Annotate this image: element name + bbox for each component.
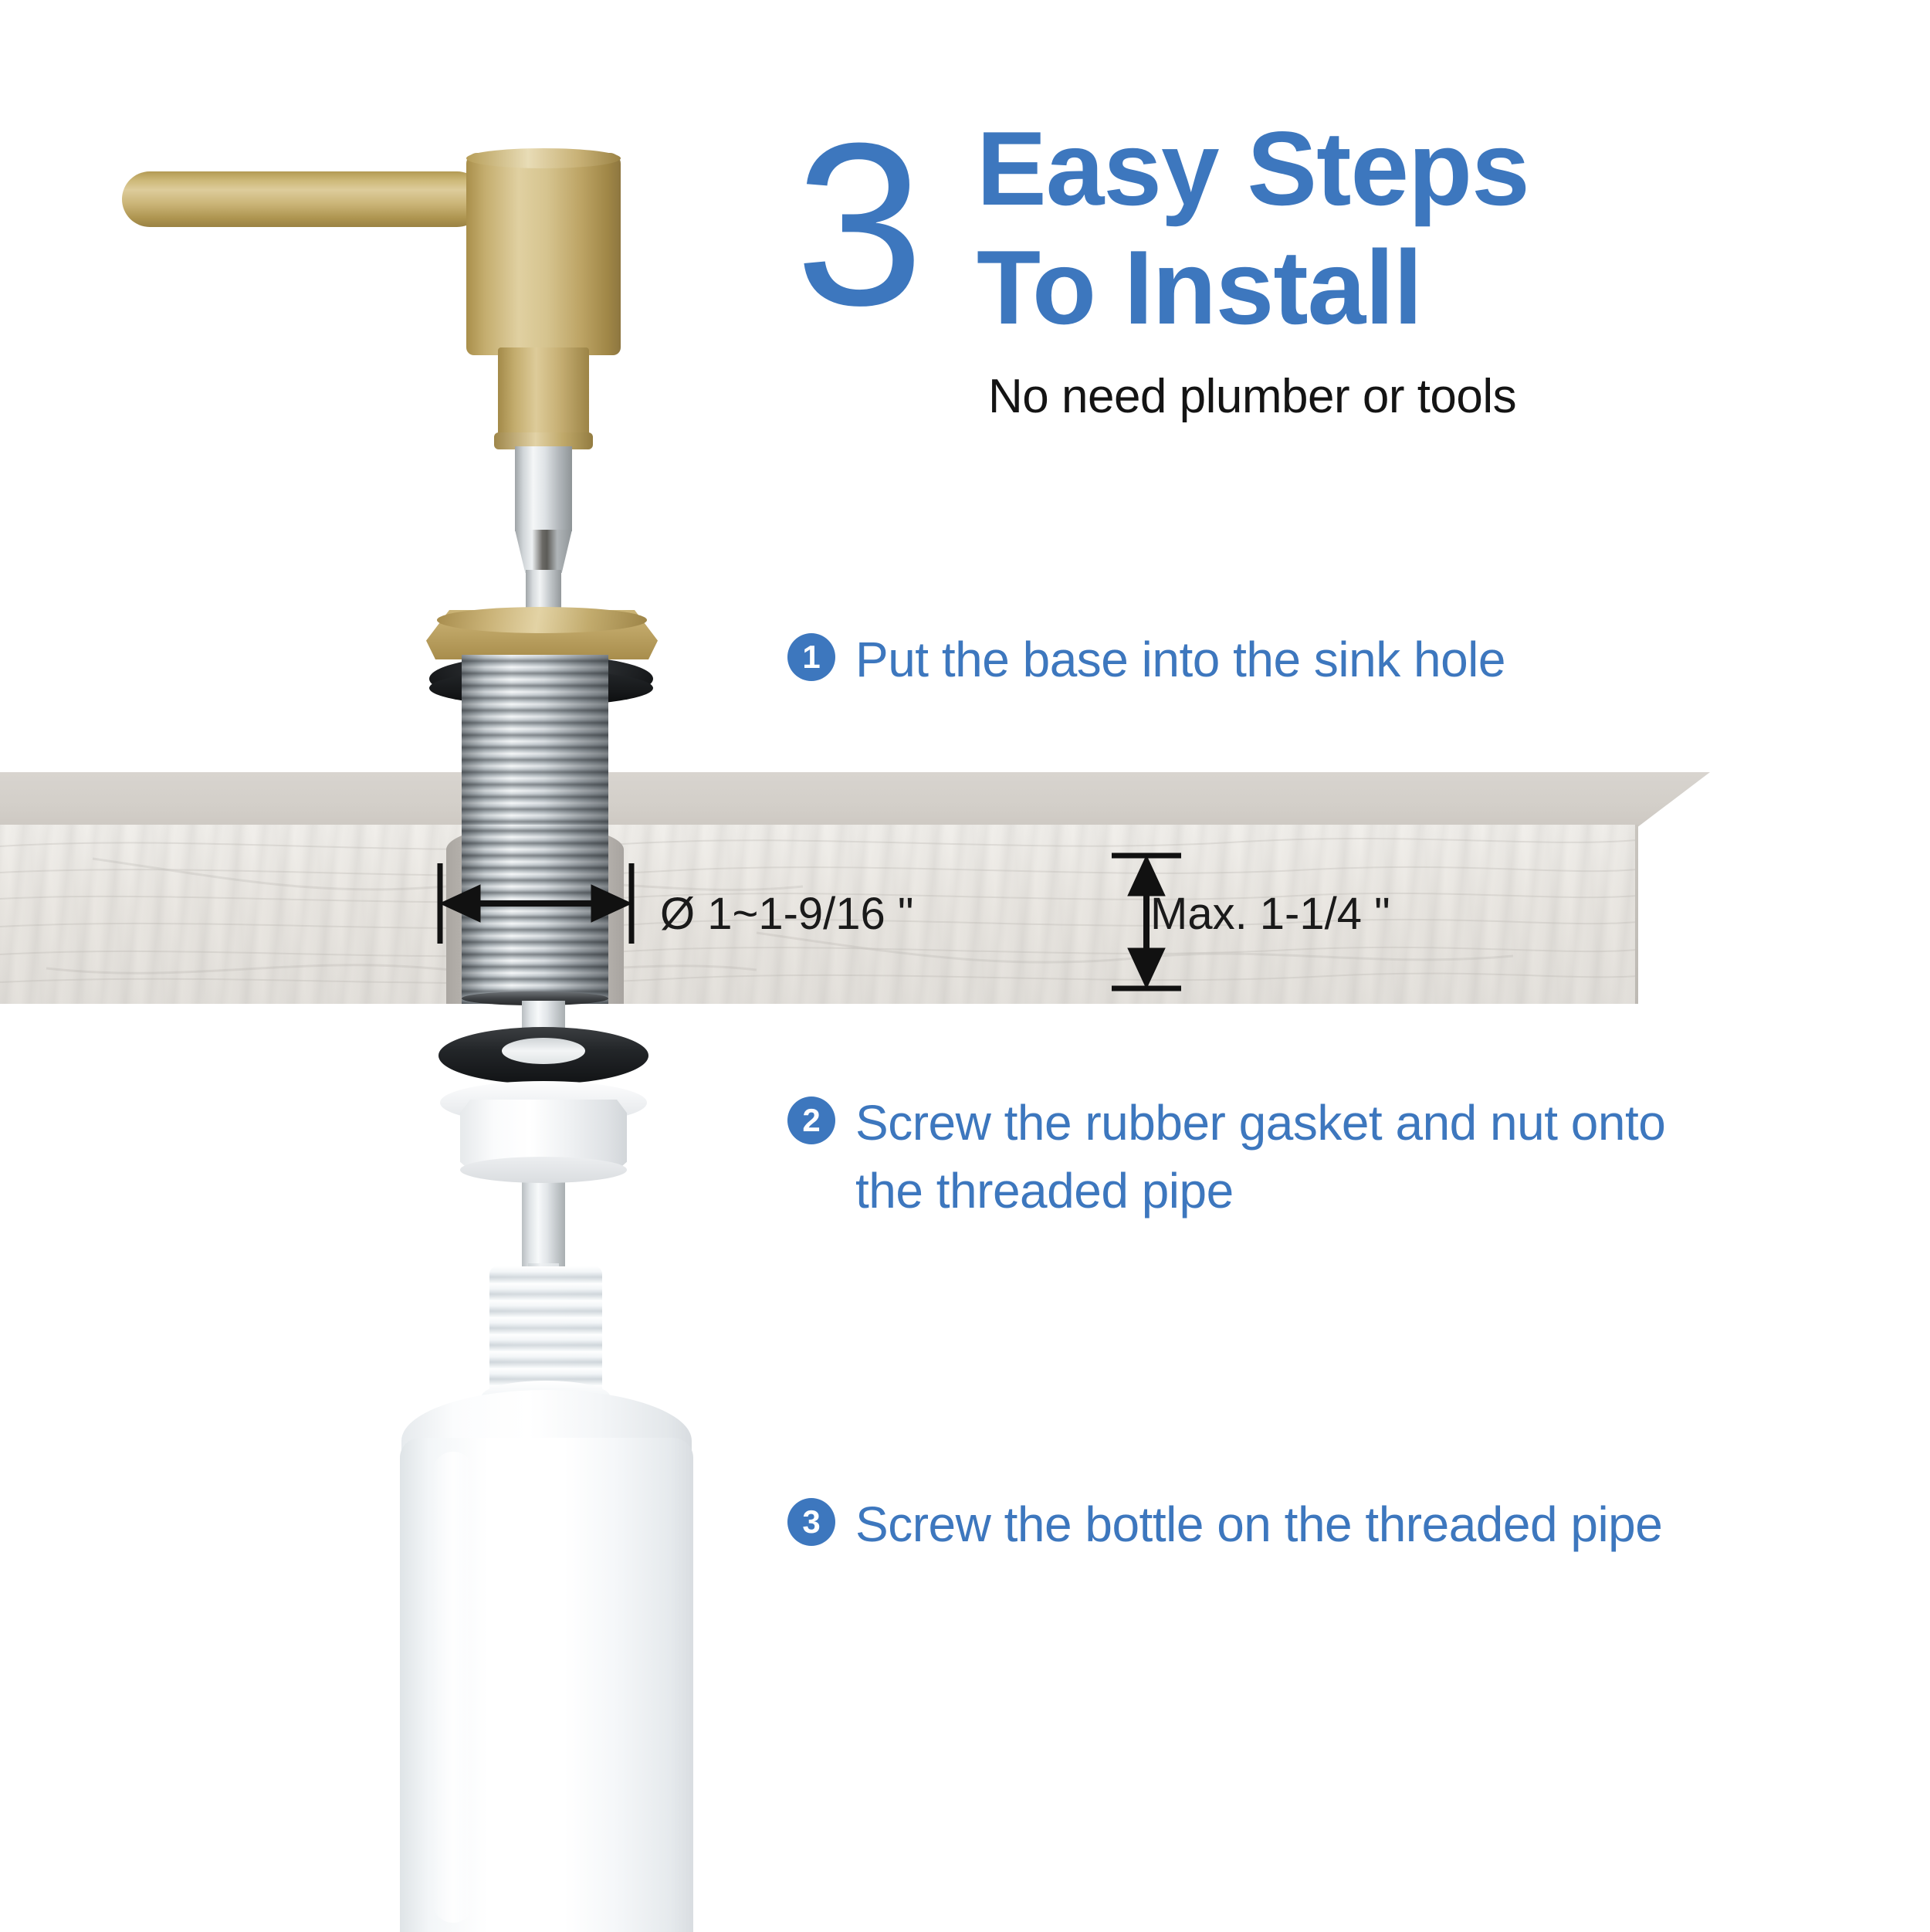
bottle-neck-ring — [482, 1381, 610, 1412]
chrome-rod-into-bottle — [528, 1263, 559, 1379]
step-item-1: 1 Put the base into the sink hole — [787, 625, 1505, 693]
hex-nut-top-face — [440, 1081, 647, 1124]
pump-head-neck — [498, 347, 589, 440]
step-badge-1: 1 — [787, 633, 835, 681]
headline-text: Easy Steps To Install — [977, 116, 1529, 340]
pump-head-body — [466, 153, 621, 355]
step-text-2: Screw the rubber gasket and nut onto the… — [855, 1089, 1665, 1225]
rubber-washer — [438, 1027, 648, 1084]
gold-spout — [122, 171, 485, 227]
rubber-gasket-top — [429, 655, 653, 703]
chrome-rod-below-counter — [522, 1001, 565, 1286]
gold-base-flange-face — [437, 607, 647, 633]
step-text-3: Screw the bottle on the threaded pipe — [855, 1490, 1662, 1558]
hex-nut-body — [460, 1100, 627, 1174]
bottle-shoulder — [401, 1390, 692, 1475]
pump-head-cap — [466, 148, 621, 168]
pump-head-ring — [494, 432, 593, 449]
bottle-highlight — [432, 1452, 474, 1923]
hex-nut-bottom — [460, 1157, 627, 1183]
hole-diameter-label: Ø 1~1-9/16 " — [660, 888, 914, 940]
chrome-shaft-upper — [515, 446, 572, 531]
step-text-2-line-2: the threaded pipe — [855, 1157, 1665, 1225]
chrome-shaft-taper — [515, 530, 572, 573]
bottle-body — [400, 1438, 693, 1932]
step-text-2-line-1: Screw the rubber gasket and nut onto — [855, 1089, 1665, 1157]
countertop-hole-cutout — [446, 825, 624, 1004]
diagram-canvas: 3 Easy Steps To Install No need plumber … — [0, 0, 1930, 1930]
max-thickness-label: Max. 1-1/4 " — [1150, 888, 1390, 940]
gold-base-flange — [426, 610, 658, 659]
step-item-3: 3 Screw the bottle on the threaded pipe — [787, 1490, 1662, 1558]
step-text-1: Put the base into the sink hole — [855, 625, 1505, 693]
rubber-gasket-top-rim — [429, 670, 653, 706]
step-badge-3: 3 — [787, 1498, 835, 1546]
rubber-washer-hole — [502, 1038, 585, 1064]
headline-line-1: Easy Steps — [977, 116, 1529, 221]
headline-number: 3 — [795, 122, 919, 326]
step-badge-2: 2 — [787, 1096, 835, 1144]
countertop-top-face — [0, 772, 1710, 828]
headline-subtitle: No need plumber or tools — [988, 369, 1516, 424]
chrome-shaft-pin — [526, 570, 561, 616]
bottle-neck-threads — [489, 1266, 602, 1398]
step-item-2: 2 Screw the rubber gasket and nut onto t… — [787, 1089, 1665, 1225]
headline-line-2: To Install — [977, 235, 1529, 340]
headline-block: 3 Easy Steps To Install No need plumber … — [795, 116, 1845, 448]
countertop-right-edge — [1635, 825, 1638, 1004]
